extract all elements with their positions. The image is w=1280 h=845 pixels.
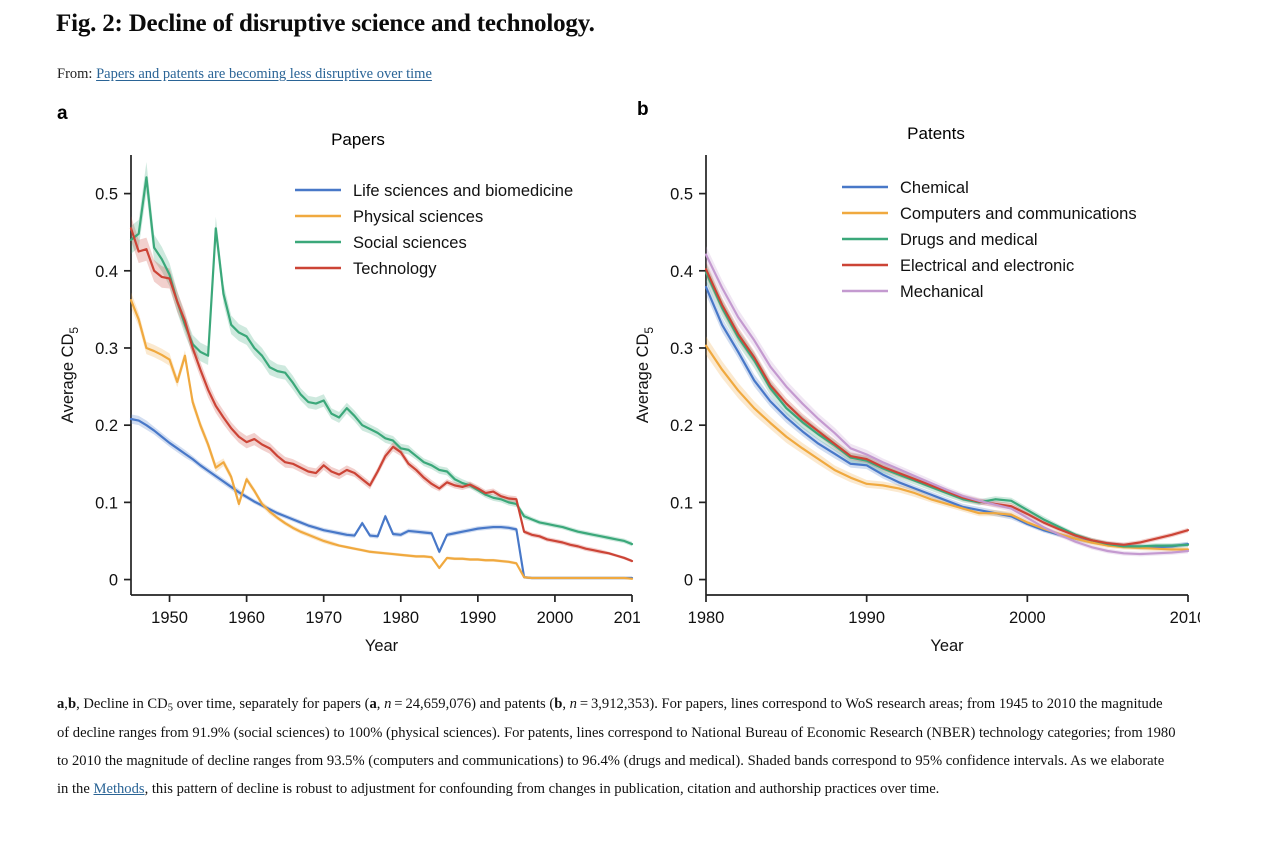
y-tick-label: 0.1 xyxy=(95,494,118,512)
y-tick-label: 0.5 xyxy=(95,186,118,204)
from-label: From: xyxy=(57,66,92,82)
legend-label-2[interactable]: Drugs and medical xyxy=(900,231,1038,249)
x-axis-title: Year xyxy=(930,637,964,655)
x-tick-label: 1990 xyxy=(459,609,496,627)
x-tick-label: 1990 xyxy=(848,609,885,627)
y-tick-label: 0.3 xyxy=(95,340,118,358)
x-tick-label: 1980 xyxy=(688,609,725,627)
x-tick-label: 2000 xyxy=(1009,609,1046,627)
y-axis-title: Average CD5 xyxy=(59,327,81,424)
y-tick-label: 0 xyxy=(684,572,693,590)
y-tick-label: 0.2 xyxy=(95,417,118,435)
series-line-0[interactable] xyxy=(706,287,1188,547)
y-tick-label: 0.2 xyxy=(670,417,693,435)
legend-label-1[interactable]: Physical sciences xyxy=(353,208,483,226)
legend-label-0[interactable]: Chemical xyxy=(900,179,969,197)
caption-n-papers: 24,659,076 xyxy=(405,696,471,712)
source-row: From: Papers and patents are becoming le… xyxy=(57,66,432,83)
x-tick-label: 1980 xyxy=(382,609,419,627)
x-tick-label: 2000 xyxy=(537,609,574,627)
chart-papers: 00.10.20.30.40.5195019601970198019902000… xyxy=(55,150,640,690)
methods-link[interactable]: Methods xyxy=(93,781,144,797)
x-axis-title: Year xyxy=(365,637,399,655)
chart-patents: 00.10.20.30.40.51980199020002010YearAver… xyxy=(630,150,1200,690)
y-tick-label: 0.4 xyxy=(670,263,693,281)
y-tick-label: 0.4 xyxy=(95,263,118,281)
chart-legend: ChemicalComputers and communicationsDrug… xyxy=(842,179,1137,301)
y-tick-label: 0 xyxy=(109,572,118,590)
figure-caption: a,b, Decline in CD5 over time, separatel… xyxy=(57,690,1177,803)
source-article-link[interactable]: Papers and patents are becoming less dis… xyxy=(96,66,432,82)
panel-label-a: a xyxy=(57,103,68,125)
series-band-1 xyxy=(706,336,1188,551)
series-line-3[interactable] xyxy=(131,228,632,561)
legend-label-0[interactable]: Life sciences and biomedicine xyxy=(353,182,573,200)
y-tick-label: 0.3 xyxy=(670,340,693,358)
legend-label-4[interactable]: Mechanical xyxy=(900,283,983,301)
figure-page: Fig. 2: Decline of disruptive science an… xyxy=(0,0,1280,845)
legend-label-3[interactable]: Electrical and electronic xyxy=(900,257,1074,275)
x-tick-label: 1950 xyxy=(151,609,188,627)
x-tick-label: 2010 xyxy=(1170,609,1200,627)
y-tick-label: 0.1 xyxy=(670,494,693,512)
y-tick-label: 0.5 xyxy=(670,186,693,204)
caption-n-patents: 3,912,353 xyxy=(591,696,649,712)
legend-label-3[interactable]: Technology xyxy=(353,260,437,278)
chart-title-patents: Patents xyxy=(836,124,1036,144)
y-axis-title: Average CD5 xyxy=(634,327,656,424)
page-title: Fig. 2: Decline of disruptive science an… xyxy=(56,10,595,38)
y-axis-title-text: Average CD5 xyxy=(59,327,81,424)
chart-legend: Life sciences and biomedicinePhysical sc… xyxy=(295,182,573,278)
legend-label-1[interactable]: Computers and communications xyxy=(900,205,1137,223)
legend-label-2[interactable]: Social sciences xyxy=(353,234,467,252)
series-band-0 xyxy=(706,279,1188,549)
x-tick-label: 1970 xyxy=(305,609,342,627)
panel-label-b: b xyxy=(637,99,649,121)
chart-title-papers: Papers xyxy=(258,130,458,150)
y-axis-title-text: Average CD5 xyxy=(634,327,656,424)
x-tick-label: 1960 xyxy=(228,609,265,627)
